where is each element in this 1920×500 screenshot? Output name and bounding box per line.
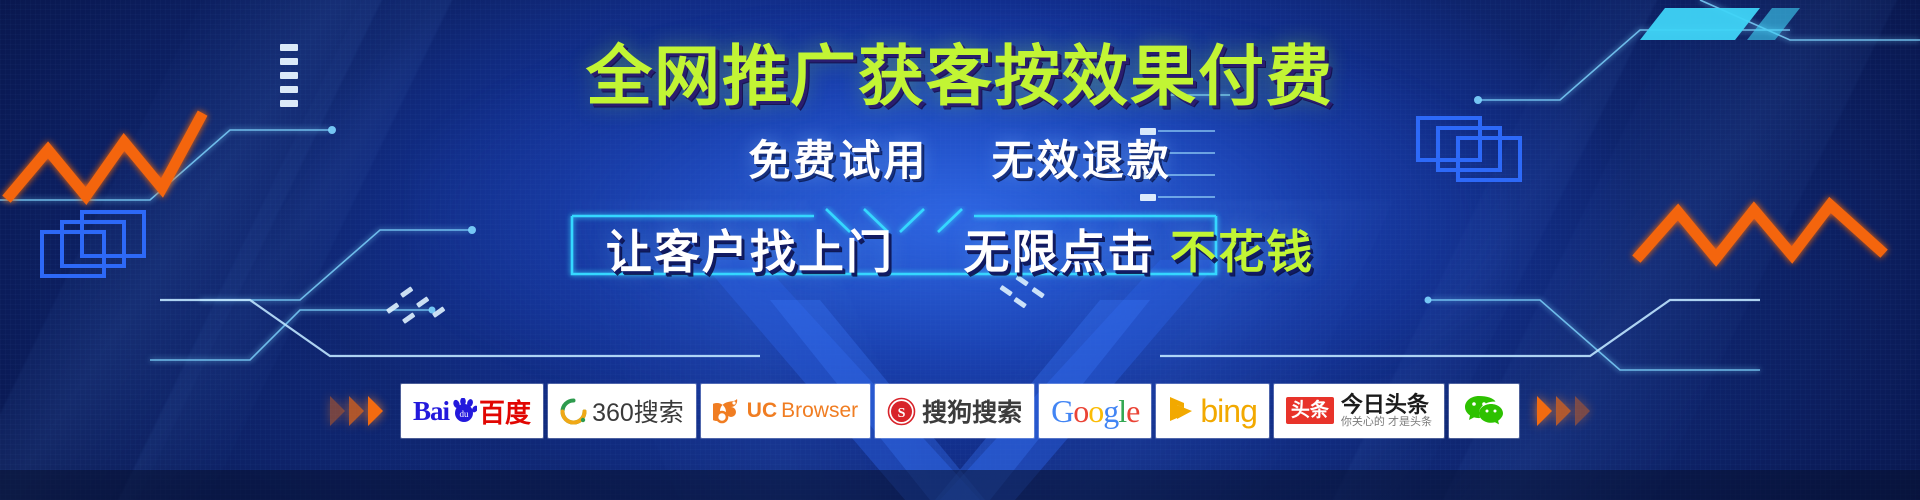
google-letter-o1: o [1073, 393, 1088, 429]
bing-text: bing [1200, 393, 1257, 430]
chevron-right-icon [368, 396, 383, 426]
chevron-arrows-left [330, 396, 383, 426]
360-search-text: 360搜索 [592, 393, 684, 429]
promo-banner: 全网推广获客按效果付费 免费试用 无效退款 [0, 0, 1920, 500]
google-letter-g2: g [1103, 393, 1118, 429]
banner-text-block: 全网推广获客按效果付费 免费试用 无效退款 [0, 0, 1920, 294]
framed-part-2: 无限点击 [963, 226, 1155, 278]
banner-framed-line: 让客户找上门 无限点击 不花钱 [564, 206, 1356, 294]
bottom-base [0, 470, 1920, 500]
chevron-right-icon [1537, 396, 1552, 426]
chevron-right-icon [330, 396, 345, 426]
logo-cell-uc[interactable]: UC Browser [701, 384, 870, 438]
sogou-search-logo: S 搜狗搜索 [887, 393, 1022, 429]
banner-subline: 免费试用 无效退款 [748, 127, 1171, 188]
google-letter-e: e [1126, 393, 1139, 429]
logo-list: Bai du 百度 [401, 384, 1519, 438]
svg-text:du: du [460, 409, 470, 419]
360-search-logo: 360搜索 [560, 393, 684, 429]
sogou-search-text: 搜狗搜索 [922, 393, 1022, 429]
subline-refund: 无效退款 [992, 137, 1172, 184]
google-letter-g1: G [1051, 393, 1073, 429]
toutiao-title: 今日头条 [1341, 393, 1432, 416]
uc-text-uc: UC [747, 399, 777, 423]
baidu-latin-text: Bai [413, 396, 449, 427]
toutiao-badge: 头条 [1286, 397, 1334, 424]
partner-logo-strip: Bai du 百度 [0, 384, 1920, 438]
chevron-right-icon [1575, 396, 1590, 426]
framed-part-1: 让客户找上门 [606, 226, 894, 278]
logo-cell-sogou[interactable]: S 搜狗搜索 [875, 384, 1034, 438]
logo-cell-360[interactable]: 360搜索 [548, 384, 696, 438]
logo-cell-wechat[interactable] [1449, 384, 1519, 438]
baidu-chinese-text: 百度 [479, 393, 531, 430]
baidu-logo: Bai du 百度 [413, 393, 531, 430]
toutiao-text-col: 今日头条 你关心的 才是头条 [1341, 393, 1432, 429]
toutiao-slogan: 你关心的 才是头条 [1341, 417, 1432, 429]
chevron-right-icon [349, 396, 364, 426]
toutiao-logo: 头条 今日头条 你关心的 才是头条 [1286, 393, 1432, 429]
baidu-paw-icon: du [451, 398, 477, 424]
banner-headline: 全网推广获客按效果付费 [586, 42, 1334, 111]
logo-cell-baidu[interactable]: Bai du 百度 [401, 384, 543, 438]
google-letter-l: l [1118, 393, 1126, 429]
wechat-icon [1463, 393, 1505, 429]
uc-squirrel-icon [713, 397, 743, 425]
google-logo: Google [1051, 395, 1139, 427]
chevron-arrows-right [1537, 396, 1590, 426]
bottom-v-shapes [700, 260, 1220, 500]
sogou-s-icon: S [887, 397, 916, 426]
logo-cell-toutiao[interactable]: 头条 今日头条 你关心的 才是头条 [1274, 384, 1444, 438]
logo-cell-bing[interactable]: bing [1156, 384, 1269, 438]
bing-logo: bing [1168, 393, 1257, 430]
chevron-right-icon [1556, 396, 1571, 426]
svg-text:S: S [898, 406, 906, 421]
uc-browser-logo: UC Browser [713, 397, 858, 425]
wechat-logo [1461, 391, 1507, 431]
framed-line-text: 让客户找上门 无限点击 不花钱 [606, 216, 1314, 282]
uc-text-browser: Browser [781, 399, 858, 423]
logo-cell-google[interactable]: Google [1039, 384, 1151, 438]
bing-mark-icon [1168, 396, 1194, 426]
lower-frame-lines [160, 300, 1760, 356]
google-letter-o2: o [1088, 393, 1103, 429]
framed-part-3: 不花钱 [1170, 226, 1314, 278]
subline-free-trial: 免费试用 [748, 137, 928, 184]
360-ring-icon [560, 398, 587, 425]
